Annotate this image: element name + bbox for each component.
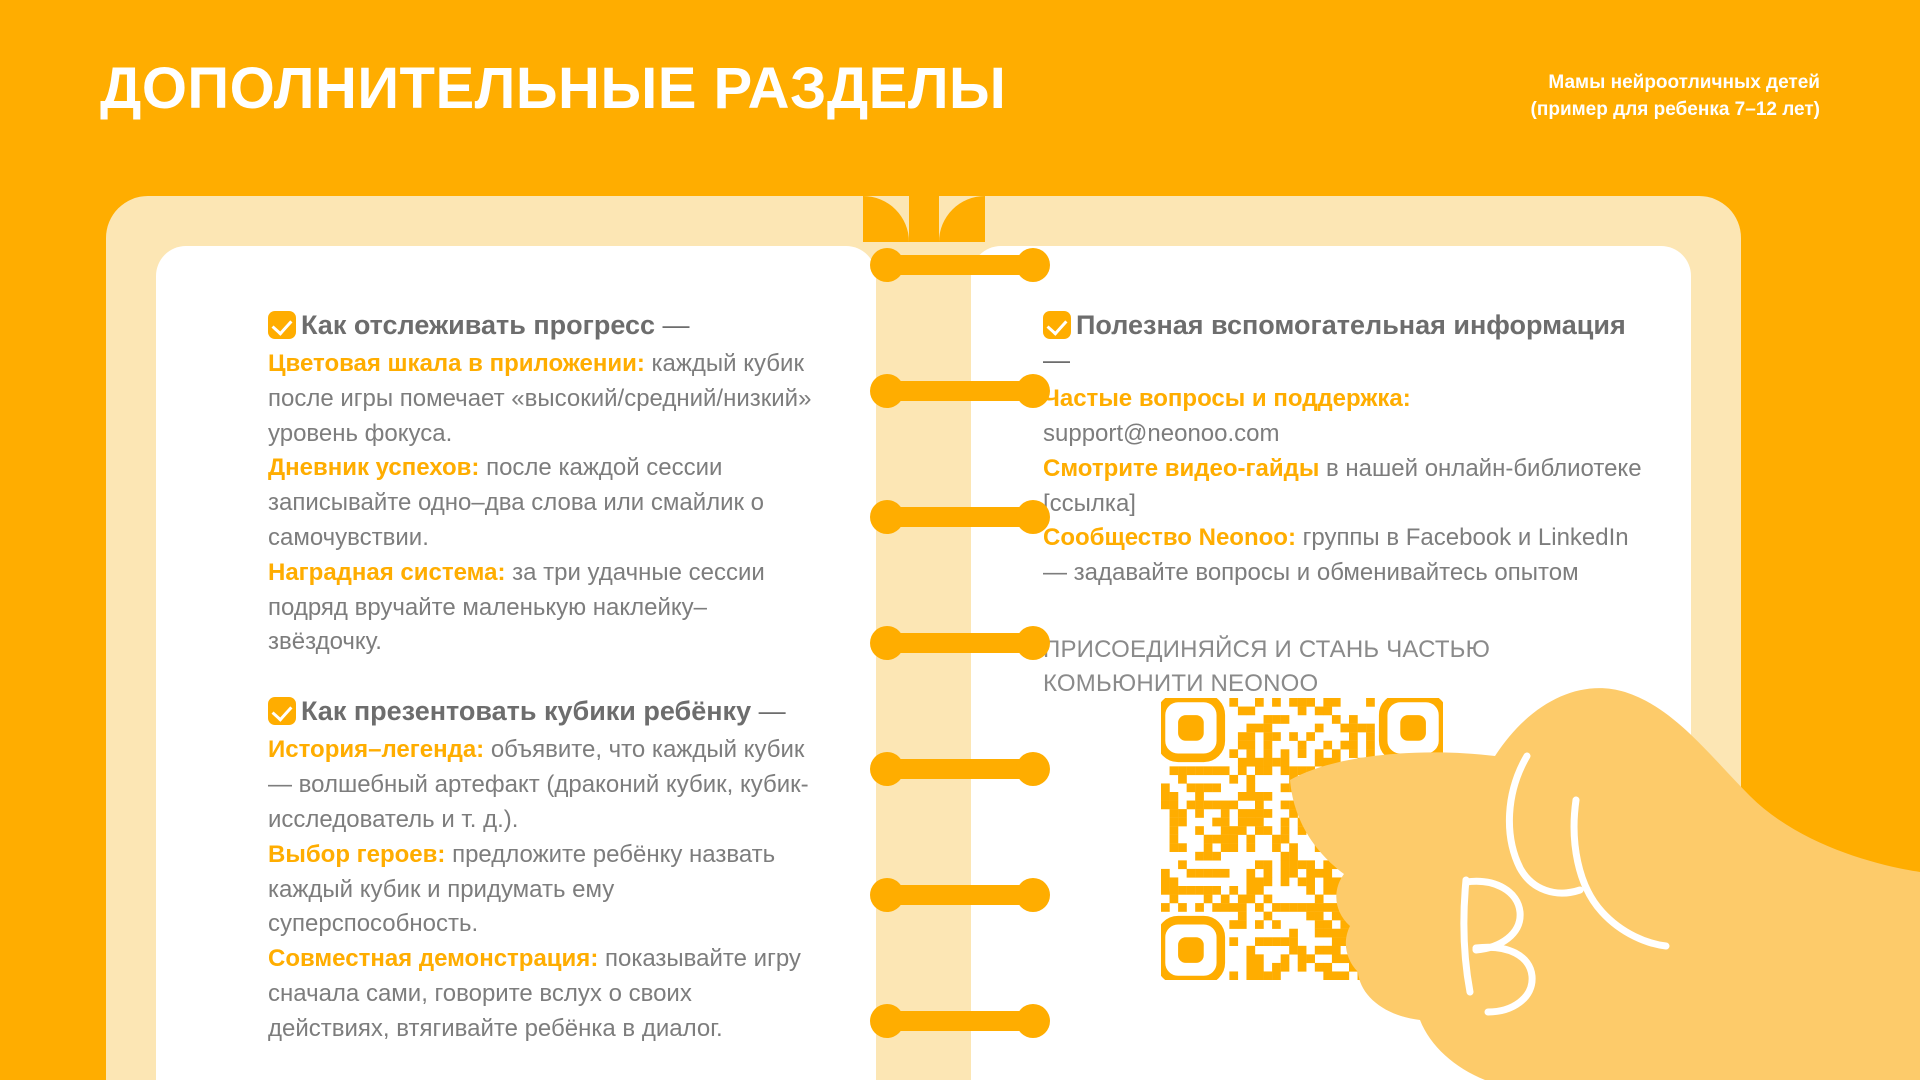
audience-line-1: Мамы нейроотличных детей bbox=[1531, 70, 1820, 97]
right-page-heading-dash: — bbox=[1043, 345, 1070, 375]
left-page-section: Как отслеживать прогресс —Цветовая шкала… bbox=[268, 308, 820, 660]
right-page-item-text: support@neonoo.com bbox=[1043, 420, 1280, 447]
right-page-item: Смотрите видео-гайды в нашей онлайн-библ… bbox=[1043, 452, 1651, 522]
left-page-heading-text: Как отслеживать прогресс bbox=[301, 310, 655, 340]
right-page-item: Сообщество Neonoo: группы в Facebook и L… bbox=[1043, 521, 1651, 591]
open-book: Как отслеживать прогресс —Цветовая шкала… bbox=[106, 196, 1741, 1080]
right-page-item: Частые вопросы и поддержка: support@neon… bbox=[1043, 382, 1651, 452]
checkbox-checked-icon bbox=[1043, 311, 1071, 339]
book-page-right: Полезная вспомогательная информация —Час… bbox=[971, 246, 1691, 1080]
header-bar: ДОПОЛНИТЕЛЬНЫЕ РАЗДЕЛЫ Мамы нейроотличны… bbox=[0, 0, 1920, 196]
right-page-item-label: Частые вопросы и поддержка: bbox=[1043, 385, 1411, 412]
community-cta-text: ПРИСОЕДИНЯЙСЯ И СТАНЬ ЧАСТЬЮ КОМЬЮНИТИ N… bbox=[1043, 633, 1651, 701]
left-page-item-label: Наградная система: bbox=[268, 559, 505, 586]
qr-code-canvas bbox=[1161, 698, 1443, 980]
right-page-item-label: Смотрите видео-гайды bbox=[1043, 455, 1319, 482]
left-page-section: Как презентовать кубики ребёнку —История… bbox=[268, 694, 820, 1046]
right-page-heading-text: Полезная вспомогательная информация bbox=[1076, 310, 1626, 340]
checkbox-checked-icon bbox=[268, 697, 296, 725]
audience-line-2: (пример для ребенка 7–12 лет) bbox=[1531, 97, 1820, 124]
header-audience-note: Мамы нейроотличных детей (пример для реб… bbox=[1531, 70, 1820, 124]
left-page-item-label: Выбор героев: bbox=[268, 841, 445, 868]
right-page-item-label: Сообщество Neonoo: bbox=[1043, 524, 1296, 551]
left-page-item: Цветовая шкала в приложении: каждый куби… bbox=[268, 347, 820, 451]
left-page-section-heading: Как презентовать кубики ребёнку — bbox=[268, 694, 820, 729]
left-page-item: Совместная демонстрация: показывайте игр… bbox=[268, 942, 820, 1046]
left-page-heading-dash: — bbox=[751, 696, 786, 726]
left-page-content: Как отслеживать прогресс —Цветовая шкала… bbox=[156, 246, 876, 1080]
left-page-item: Наградная система: за три удачные сессии… bbox=[268, 556, 820, 660]
left-page-item: Дневник успехов: после каждой сессии зап… bbox=[268, 451, 820, 555]
left-page-item: История–легенда: объявите, что каждый ку… bbox=[268, 733, 820, 837]
left-page-heading-text: Как презентовать кубики ребёнку bbox=[301, 696, 751, 726]
spine-notch bbox=[909, 196, 939, 242]
left-page-item-label: История–легенда: bbox=[268, 736, 484, 763]
left-page-item-label: Дневник успехов: bbox=[268, 454, 479, 481]
right-page-section: Полезная вспомогательная информация —Час… bbox=[1043, 308, 1651, 591]
left-page-item-label: Совместная демонстрация: bbox=[268, 945, 598, 972]
right-page-section-heading: Полезная вспомогательная информация — bbox=[1043, 308, 1651, 378]
page-title: ДОПОЛНИТЕЛЬНЫЕ РАЗДЕЛЫ bbox=[100, 60, 1006, 118]
qr-code[interactable] bbox=[1161, 698, 1443, 980]
left-page-section-heading: Как отслеживать прогресс — bbox=[268, 308, 820, 343]
left-page-heading-dash: — bbox=[655, 310, 690, 340]
left-page-item: Выбор героев: предложите ребёнку назвать… bbox=[268, 838, 820, 942]
left-page-item-label: Цветовая шкала в приложении: bbox=[268, 350, 645, 377]
checkbox-checked-icon bbox=[268, 311, 296, 339]
book-page-left: Как отслеживать прогресс —Цветовая шкала… bbox=[156, 246, 876, 1080]
